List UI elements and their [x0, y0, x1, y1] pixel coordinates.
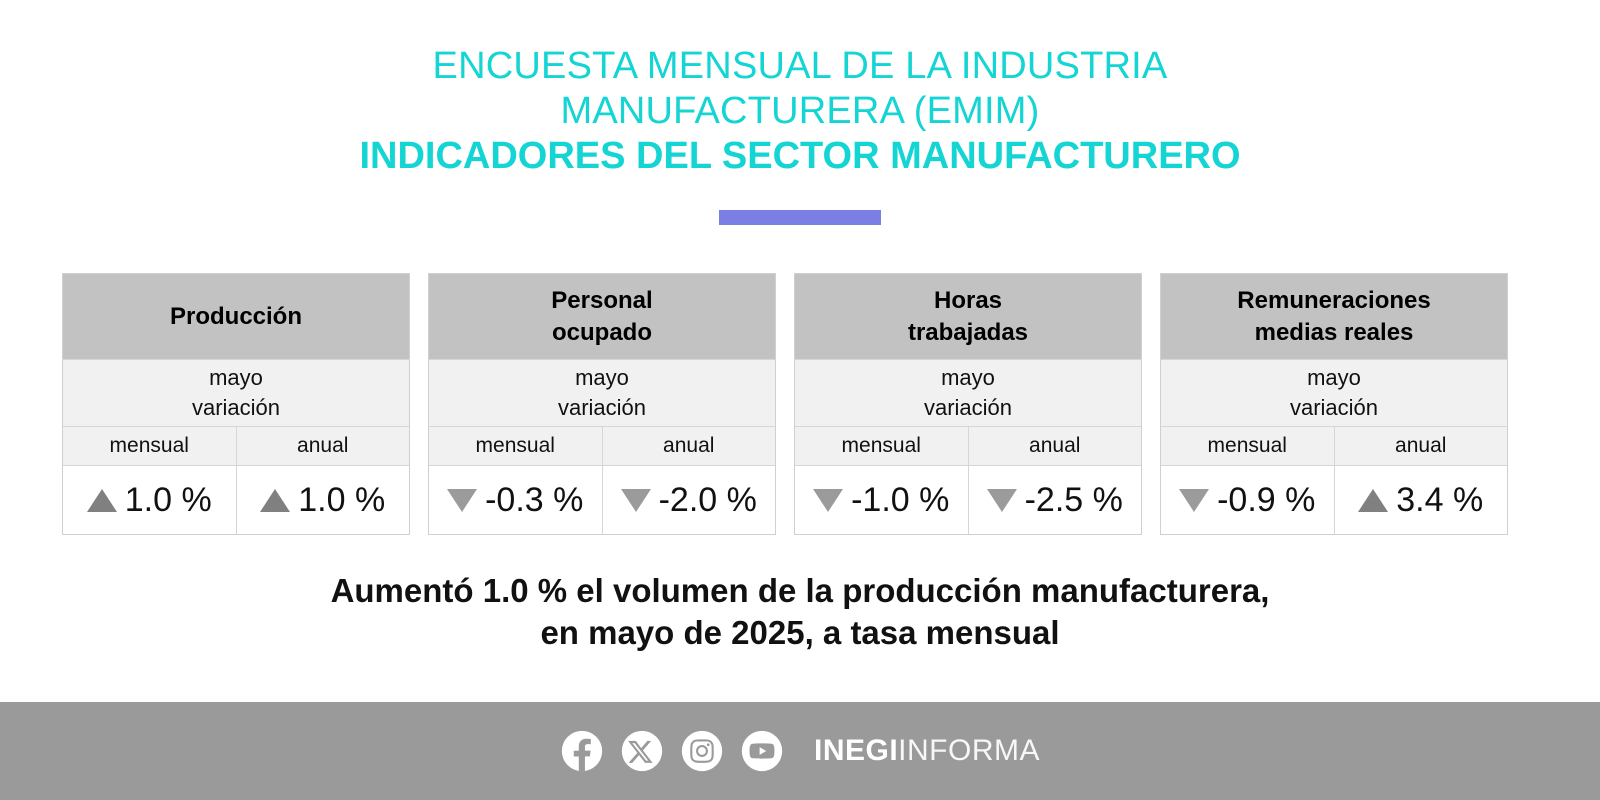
value-mensual: -1.0 % [795, 466, 968, 534]
x-twitter-icon[interactable] [620, 729, 664, 773]
card-title-text: Producción [170, 301, 302, 332]
card-column-headers: mensual anual [795, 427, 1141, 466]
value-anual-text: -2.0 % [659, 481, 757, 520]
indicator-cards: Producción mayo variación mensual anual … [62, 273, 1508, 535]
card-title: Personal ocupado [429, 274, 775, 359]
arrow-down-icon [447, 489, 477, 512]
card-period-variation: variación [192, 393, 280, 423]
page-title: ENCUESTA MENSUAL DE LA INDUSTRIA MANUFAC… [0, 44, 1600, 178]
value-anual: -2.5 % [968, 466, 1142, 534]
arrow-up-icon [1358, 489, 1388, 512]
card-period: mayo variación [1161, 359, 1507, 427]
arrow-up-icon [87, 489, 117, 512]
brand-lockup: INEGIINFORMA [814, 734, 1040, 768]
arrow-down-icon [813, 489, 843, 512]
column-header-mensual: mensual [1161, 427, 1334, 465]
card-title: Producción [63, 274, 409, 359]
value-anual-text: 3.4 % [1396, 481, 1483, 520]
indicator-card-remuneraciones: Remuneraciones medias reales mayo variac… [1160, 273, 1508, 535]
card-title-text: Personal ocupado [551, 285, 652, 347]
title-line-1: ENCUESTA MENSUAL DE LA INDUSTRIA [0, 44, 1600, 89]
value-mensual-text: -0.9 % [1217, 481, 1315, 520]
arrow-down-icon [1179, 489, 1209, 512]
column-header-mensual: mensual [795, 427, 968, 465]
card-title-text: Horas trabajadas [908, 285, 1028, 347]
footer-bar: INEGIINFORMA [0, 702, 1600, 800]
column-header-anual: anual [236, 427, 410, 465]
facebook-icon[interactable] [560, 729, 604, 773]
value-anual-text: 1.0 % [298, 481, 385, 520]
card-period-month: mayo [575, 363, 629, 393]
column-header-mensual: mensual [63, 427, 236, 465]
card-period: mayo variación [429, 359, 775, 427]
card-values: -0.9 % 3.4 % [1161, 466, 1507, 534]
value-mensual-text: -0.3 % [485, 481, 583, 520]
value-anual: 3.4 % [1334, 466, 1508, 534]
card-period-variation: variación [1290, 393, 1378, 423]
brand-inegi: INEGI [814, 734, 898, 767]
card-column-headers: mensual anual [429, 427, 775, 466]
youtube-icon[interactable] [740, 729, 784, 773]
instagram-icon[interactable] [680, 729, 724, 773]
purple-divider [719, 210, 881, 225]
column-header-anual: anual [1334, 427, 1508, 465]
card-period-variation: variación [558, 393, 646, 423]
card-column-headers: mensual anual [63, 427, 409, 466]
caption-line-1: Aumentó 1.0 % el volumen de la producció… [0, 570, 1600, 612]
card-period-month: mayo [1307, 363, 1361, 393]
value-anual: -2.0 % [602, 466, 776, 534]
value-anual-text: -2.5 % [1025, 481, 1123, 520]
summary-caption: Aumentó 1.0 % el volumen de la producció… [0, 570, 1600, 654]
card-period-variation: variación [924, 393, 1012, 423]
title-line-3: INDICADORES DEL SECTOR MANUFACTURERO [0, 134, 1600, 179]
title-line-2: MANUFACTURERA (EMIM) [0, 89, 1600, 134]
card-period: mayo variación [63, 359, 409, 427]
value-mensual-text: 1.0 % [125, 481, 212, 520]
value-mensual-text: -1.0 % [851, 481, 949, 520]
column-header-anual: anual [968, 427, 1142, 465]
value-anual: 1.0 % [236, 466, 410, 534]
card-period-month: mayo [941, 363, 995, 393]
value-mensual: 1.0 % [63, 466, 236, 534]
caption-line-2: en mayo de 2025, a tasa mensual [0, 612, 1600, 654]
value-mensual: -0.9 % [1161, 466, 1334, 534]
column-header-anual: anual [602, 427, 776, 465]
card-values: -0.3 % -2.0 % [429, 466, 775, 534]
card-title: Remuneraciones medias reales [1161, 274, 1507, 359]
arrow-down-icon [987, 489, 1017, 512]
indicator-card-produccion: Producción mayo variación mensual anual … [62, 273, 410, 535]
card-column-headers: mensual anual [1161, 427, 1507, 466]
arrow-up-icon [260, 489, 290, 512]
card-title-text: Remuneraciones medias reales [1237, 285, 1430, 347]
value-mensual: -0.3 % [429, 466, 602, 534]
indicator-card-horas-trabajadas: Horas trabajadas mayo variación mensual … [794, 273, 1142, 535]
card-values: -1.0 % -2.5 % [795, 466, 1141, 534]
card-period-month: mayo [209, 363, 263, 393]
arrow-down-icon [621, 489, 651, 512]
indicator-card-personal-ocupado: Personal ocupado mayo variación mensual … [428, 273, 776, 535]
card-title: Horas trabajadas [795, 274, 1141, 359]
column-header-mensual: mensual [429, 427, 602, 465]
brand-informa: INFORMA [898, 734, 1040, 767]
card-values: 1.0 % 1.0 % [63, 466, 409, 534]
divider-wrapper [0, 210, 1600, 230]
card-period: mayo variación [795, 359, 1141, 427]
